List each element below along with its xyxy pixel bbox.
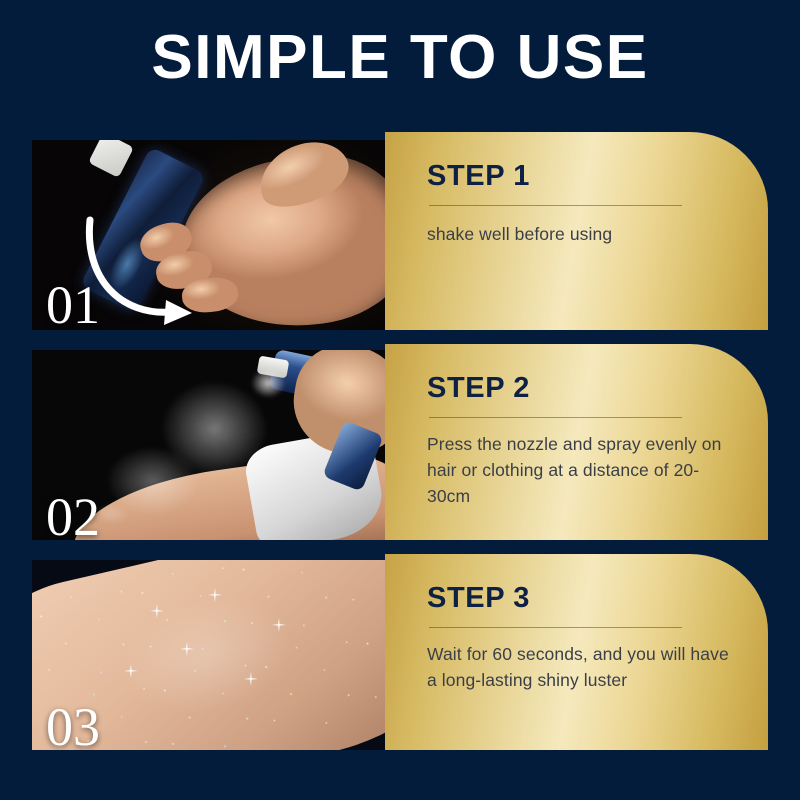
sparkle-icon: [180, 642, 194, 656]
step-title: STEP 1: [427, 160, 734, 192]
step-title: STEP 2: [427, 372, 734, 404]
sparkle-icon: [272, 618, 286, 632]
step-photo-3: 03: [32, 560, 388, 750]
step-photo-2: 02: [32, 350, 388, 540]
sparkle-icon: [150, 604, 164, 618]
step-card-1: STEP 1 shake well before using: [385, 132, 768, 330]
step-body-text: Press the nozzle and spray evenly on hai…: [427, 431, 734, 509]
step-number-badge: 02: [46, 490, 100, 540]
step-divider: [429, 627, 682, 628]
sparkle-icon: [124, 664, 138, 678]
step-title: STEP 3: [427, 582, 734, 614]
step-card-2: STEP 2 Press the nozzle and spray evenly…: [385, 344, 768, 540]
step-row-2: 02 STEP 2 Press the nozzle and spray eve…: [0, 350, 800, 540]
spray-mist-icon: [87, 357, 293, 534]
step-divider: [429, 205, 682, 206]
page-title: SIMPLE TO USE: [0, 27, 800, 89]
step-divider: [429, 417, 682, 418]
step-card-3: STEP 3 Wait for 60 seconds, and you will…: [385, 554, 768, 750]
infographic-page: SIMPLE TO USE 01 STEP 1 s: [0, 0, 800, 800]
step-body-text: Wait for 60 seconds, and you will have a…: [427, 641, 734, 693]
step-number-badge: 01: [46, 278, 100, 330]
step-photo-1: 01: [32, 140, 388, 330]
step-number-badge: 03: [46, 700, 100, 750]
step-row-3: 03 STEP 3 Wait for 60 seconds, and you w…: [0, 560, 800, 750]
step-body-text: shake well before using: [427, 221, 734, 247]
sparkle-icon: [244, 672, 258, 686]
step-row-1: 01 STEP 1 shake well before using: [0, 140, 800, 330]
sparkle-icon: [208, 588, 222, 602]
